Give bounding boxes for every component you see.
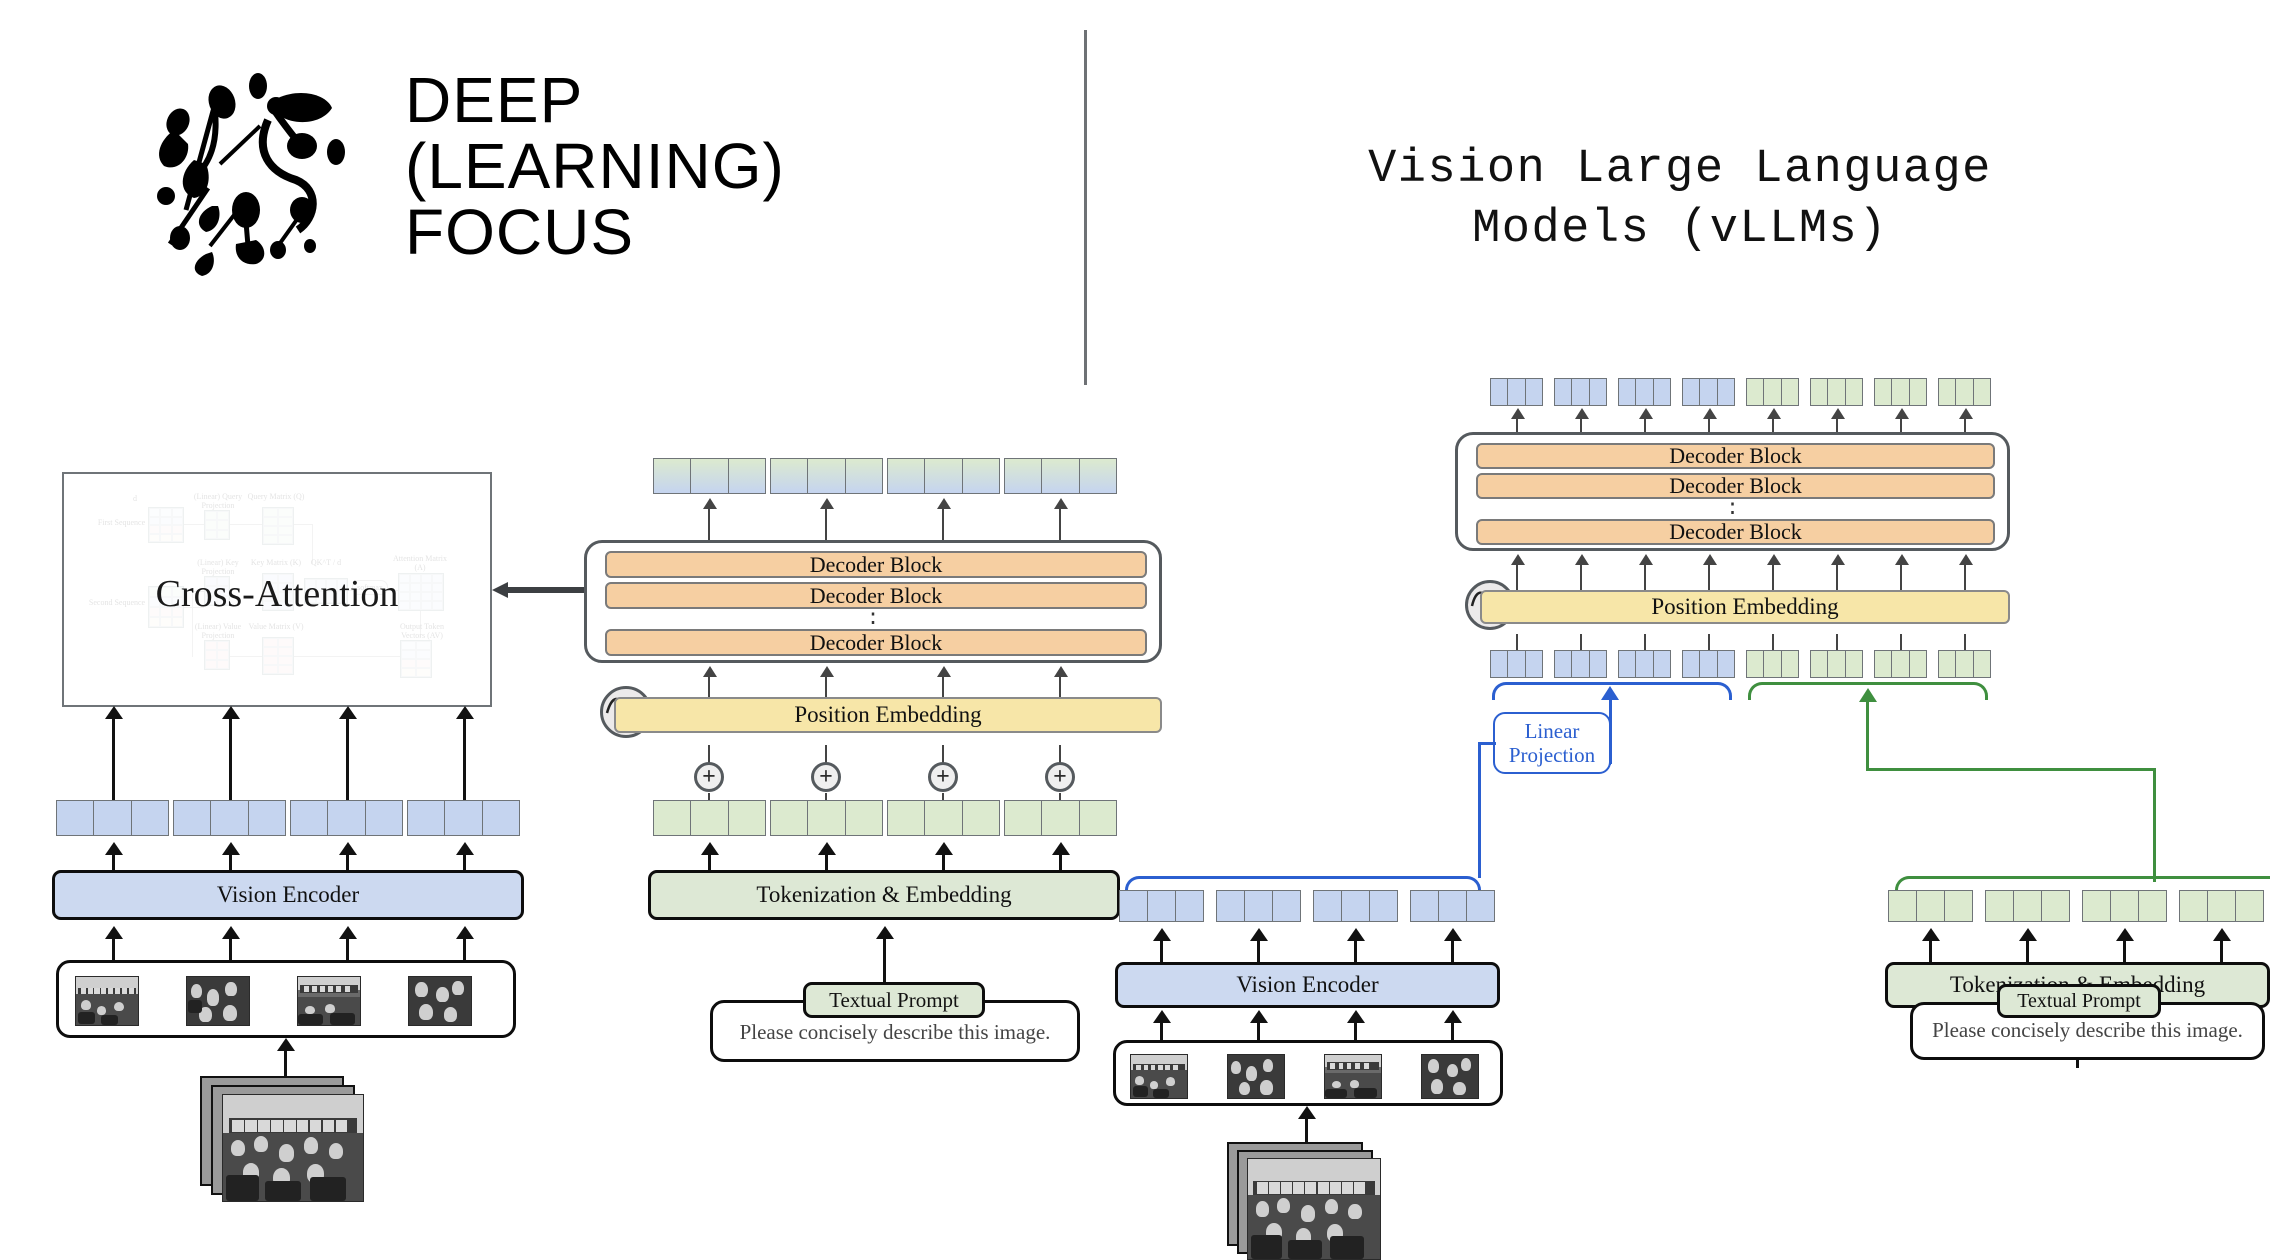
ghost-label-value-matrix: Value Matrix (V): [246, 622, 306, 631]
decoder-stack: Decoder Block Decoder Block ⋮ Decoder Bl…: [1455, 432, 2010, 551]
textual-prompt-badge-label: Textual Prompt: [2017, 990, 2141, 1013]
add-operator: +: [811, 762, 841, 792]
textual-prompt-badge-label: Textual Prompt: [829, 988, 959, 1013]
decoder-ellipsis: ⋮: [1458, 509, 2007, 519]
text-token-group: [653, 800, 766, 836]
ghost-label-value-projection: (Linear) Value Projection: [190, 622, 246, 640]
decoder-block: Decoder Block: [1476, 443, 1995, 469]
ghost-matrix-av: [400, 640, 432, 678]
output-token-group: [770, 458, 883, 494]
fused-text-token-group: [1810, 650, 1863, 678]
add-operator: +: [928, 762, 958, 792]
fused-text-token-group: [1874, 650, 1927, 678]
image-patch: [75, 976, 139, 1026]
image-token-group: [290, 800, 403, 836]
text-token-group: [887, 800, 1000, 836]
image-token-group: [56, 800, 169, 836]
image-token-group: [1313, 890, 1398, 922]
text-token-group: [2082, 890, 2167, 922]
image-token-group: [1119, 890, 1204, 922]
decoder-block: Decoder Block: [1476, 473, 1995, 499]
ghost-label-d: d: [126, 494, 144, 503]
ghost-matrix-query-proj: [204, 510, 230, 540]
vision-encoder-box: Vision Encoder: [1115, 962, 1500, 1008]
output-image-token-group: [1490, 378, 1543, 406]
textual-prompt-badge: Textual Prompt: [1997, 984, 2161, 1018]
fused-image-token-group: [1618, 650, 1671, 678]
ghost-label-first-sequence: First Sequence: [94, 518, 149, 527]
ghost-label-output-tokens: Output Token Vectors (AV): [390, 622, 454, 640]
image-token-group: [1410, 890, 1495, 922]
fused-text-token-group: [1938, 650, 1991, 678]
decoder-block: Decoder Block: [1476, 519, 1995, 545]
ghost-matrix-input-1: [148, 507, 184, 543]
output-text-token-group: [1874, 378, 1927, 406]
ghost-matrix-v: [262, 637, 294, 675]
image-token-group: [407, 800, 520, 836]
left-architecture-diagram: First Sequence d (Linear) Query Projecti…: [0, 0, 1135, 1218]
image-patch: [408, 976, 472, 1026]
position-embedding-bar: Position Embedding: [1480, 590, 2010, 624]
fused-image-token-group: [1682, 650, 1735, 678]
decoder-block-label: Decoder Block: [810, 552, 943, 578]
vision-encoder-label: Vision Encoder: [217, 882, 359, 908]
input-image-stack: [1227, 1142, 1397, 1258]
output-text-token-group: [1810, 378, 1863, 406]
ghost-label-query-matrix: Query Matrix (Q): [246, 492, 306, 501]
image-patch: [186, 976, 250, 1026]
decoder-block: Decoder Block: [605, 551, 1147, 578]
decoder-ellipsis: ⋮: [587, 619, 1159, 629]
image-stack-layer: [1247, 1158, 1381, 1260]
image-patch-strip: [1113, 1040, 1503, 1106]
ghost-label-attention-matrix: Attention Matrix (A): [390, 554, 450, 572]
textual-prompt-badge: Textual Prompt: [803, 982, 985, 1018]
text-path-stem: [1866, 700, 1869, 770]
decoder-block: Decoder Block: [605, 629, 1147, 656]
text-token-group: [1004, 800, 1117, 836]
prompt-text: Please concisely describe this image.: [740, 1020, 1051, 1059]
output-image-token-group: [1682, 378, 1735, 406]
image-token-group: [173, 800, 286, 836]
tokenization-label: Tokenization & Embedding: [756, 882, 1011, 908]
text-token-group: [770, 800, 883, 836]
position-embedding-label: Position Embedding: [794, 702, 981, 728]
cross-attention-label: Cross-Attention: [64, 572, 490, 616]
ghost-matrix-q: [262, 507, 294, 545]
vision-encoder-box: Vision Encoder: [52, 870, 524, 920]
decoder-block: Decoder Block: [605, 582, 1147, 609]
output-image-token-group: [1554, 378, 1607, 406]
linear-projection-label-1: Linear: [1509, 719, 1595, 743]
image-token-group: [1216, 890, 1301, 922]
decoder-block-label: Decoder Block: [810, 630, 943, 656]
prompt-text: Please concisely describe this image.: [1932, 1018, 2243, 1057]
add-operator: +: [694, 762, 724, 792]
image-stack-layer: [222, 1094, 364, 1202]
text-path-down: [2153, 768, 2156, 882]
decoder-block-label: Decoder Block: [810, 583, 943, 609]
image-patch: [1130, 1054, 1188, 1099]
ghost-label-query-projection: (Linear) Query Projection: [190, 492, 246, 510]
output-token-group: [653, 458, 766, 494]
output-image-token-group: [1618, 378, 1671, 406]
add-operator: +: [1045, 762, 1075, 792]
linear-projection-out-arrowhead: [1601, 686, 1619, 700]
linear-projection-label-2: Projection: [1509, 743, 1595, 767]
cross-attention-panel: First Sequence d (Linear) Query Projecti…: [62, 472, 492, 707]
position-embedding-bar: Position Embedding: [614, 697, 1162, 733]
text-token-group: [1888, 890, 1973, 922]
output-token-group: [1004, 458, 1117, 494]
output-token-group: [887, 458, 1000, 494]
right-architecture-diagram: Decoder Block Decoder Block ⋮ Decoder Bl…: [1135, 0, 2270, 1218]
image-patch: [1421, 1054, 1479, 1099]
decoder-stack: Decoder Block Decoder Block ⋮ Decoder Bl…: [584, 540, 1162, 663]
image-patch: [1324, 1054, 1382, 1099]
text-path-elbow: [1866, 768, 2156, 771]
linear-projection-in-down: [1478, 742, 1481, 878]
ghost-label-qk: QK^T / d: [306, 558, 346, 567]
tokenization-embedding-box: Tokenization & Embedding: [648, 870, 1120, 920]
output-text-token-group: [1746, 378, 1799, 406]
fused-image-token-group: [1554, 650, 1607, 678]
decoder-block-label: Decoder Block: [1669, 519, 1802, 545]
ghost-matrix-value-proj: [204, 640, 230, 670]
image-patch-strip: [56, 960, 516, 1038]
ghost-label-key-matrix: Key Matrix (K): [246, 558, 306, 567]
vision-encoder-label: Vision Encoder: [1236, 972, 1378, 998]
position-embedding-label: Position Embedding: [1651, 594, 1838, 620]
fused-image-token-group: [1490, 650, 1543, 678]
fused-text-token-group: [1746, 650, 1799, 678]
linear-projection-box[interactable]: Linear Projection: [1493, 712, 1611, 774]
text-token-group: [1985, 890, 2070, 922]
decoder-block-label: Decoder Block: [1669, 473, 1802, 499]
decoder-block-label: Decoder Block: [1669, 443, 1802, 469]
input-image-stack: [200, 1076, 380, 1200]
image-patch: [297, 976, 361, 1026]
output-text-token-group: [1938, 378, 1991, 406]
image-patch: [1227, 1054, 1285, 1099]
text-token-group: [2179, 890, 2264, 922]
